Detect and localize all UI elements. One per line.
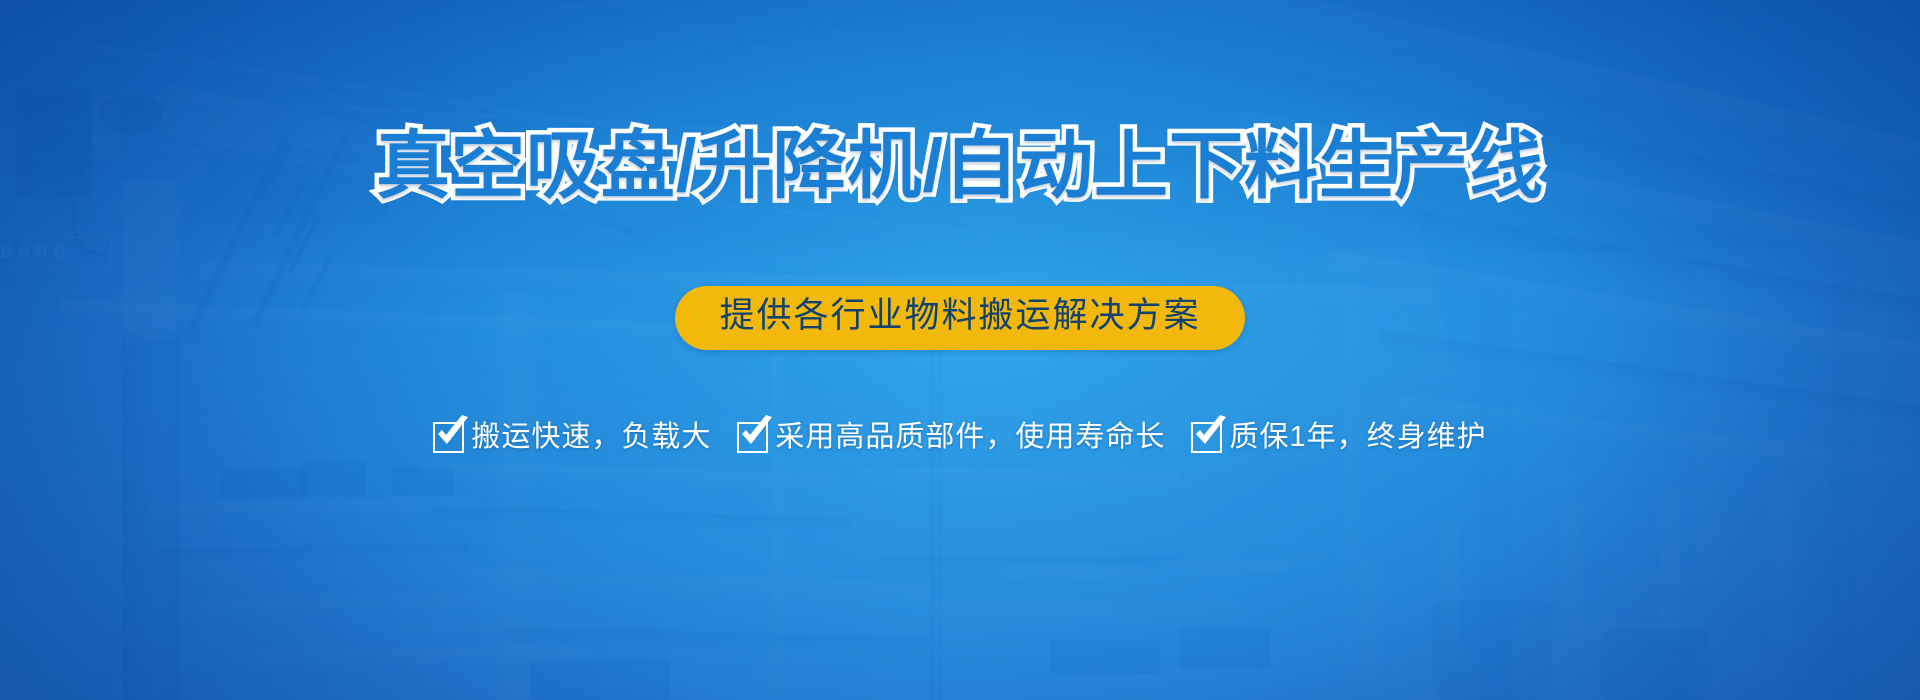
banner-subtitle-wrap: 提供各行业物料搬运解决方案 (0, 286, 1920, 350)
feature-item: 搬运快速，负载大 (433, 420, 711, 454)
check-box-icon (1191, 422, 1222, 453)
check-box-icon (737, 422, 768, 453)
subtitle-pill-badge: 提供各行业物料搬运解决方案 (675, 286, 1244, 350)
hero-banner: BA06 (0, 0, 1920, 700)
check-box-icon (433, 422, 464, 453)
feature-item: 质保1年，终身维护 (1191, 420, 1486, 454)
feature-label: 搬运快速，负载大 (471, 420, 711, 454)
feature-label: 质保1年，终身维护 (1229, 420, 1486, 454)
feature-list: 搬运快速，负载大 采用高品质部件，使用寿命长 质保1年，终身维护 (0, 420, 1920, 454)
banner-title: 真空吸盘/升降机/自动上下料生产线 (0, 126, 1920, 206)
feature-item: 采用高品质部件，使用寿命长 (737, 420, 1165, 454)
feature-label: 采用高品质部件，使用寿命长 (775, 420, 1165, 454)
banner-content: 真空吸盘/升降机/自动上下料生产线 提供各行业物料搬运解决方案 搬运快速，负载大 (0, 0, 1920, 700)
